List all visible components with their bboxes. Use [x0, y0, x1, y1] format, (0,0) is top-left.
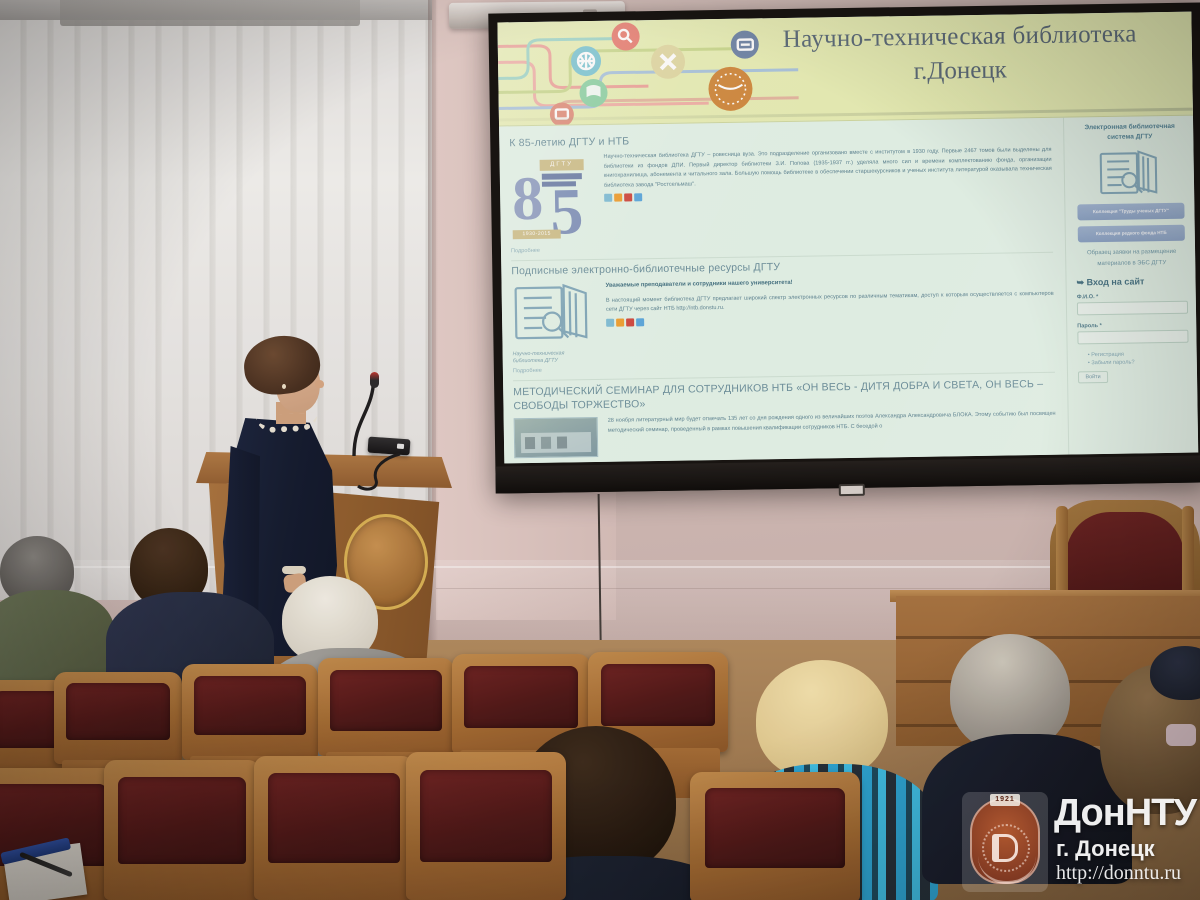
microphone-capsule — [370, 372, 379, 388]
section-body-text: Уважаемые преподаватели и сотрудники наш… — [605, 274, 1054, 373]
slide-title-block: Научно-техническая библиотека г.Донецк — [750, 20, 1171, 89]
news-section-resources: Подписные электронно-библиотечные ресурс… — [511, 257, 1055, 374]
odnoklassniki-icon[interactable] — [616, 318, 624, 326]
slide-title-line1: Научно-техническая библиотека — [750, 20, 1170, 55]
blinds-valance — [60, 0, 360, 26]
fullname-field-label: Ф.И.О. * — [1077, 293, 1188, 301]
facebook-icon[interactable] — [624, 194, 632, 202]
auditorium-chair[interactable] — [104, 760, 260, 900]
book-search-icon — [511, 281, 596, 344]
presidium-chair — [1050, 500, 1200, 604]
book-search-icon — [1097, 148, 1164, 198]
mail-icon[interactable] — [606, 319, 614, 327]
news-section-seminar: МЕТОДИЧЕСКИЙ СЕМИНАР ДЛЯ СОТРУДНИКОВ НТБ… — [513, 377, 1056, 459]
forgot-password-link[interactable]: • Забыли пароль? — [1088, 359, 1189, 367]
watermark-city: г. Донецк — [1056, 836, 1155, 862]
seminar-photo-thumbnail[interactable] — [514, 417, 601, 458]
library-website-slide: Научно-техническая библиотека г.Донецк К… — [497, 12, 1198, 464]
section-lead-text: Уважаемые преподаватели и сотрудники наш… — [606, 280, 793, 289]
facebook-icon[interactable] — [626, 318, 634, 326]
register-link[interactable]: • Регистрация — [1088, 351, 1189, 359]
slide-title-line2: г.Донецк — [750, 54, 1170, 89]
auditorium-chair[interactable] — [406, 752, 566, 900]
crest-monogram — [992, 834, 1018, 862]
section-body-text: 28 ноября литературный мир будет отмечат… — [608, 410, 1057, 457]
audience-head — [756, 660, 888, 780]
logo-years-banner: 1930-2015 — [513, 230, 561, 240]
login-arrow-icon: ➥ — [1076, 278, 1084, 288]
twitter-icon[interactable] — [636, 318, 644, 326]
password-input[interactable] — [1077, 330, 1188, 345]
login-heading: ➥ Вход на сайт — [1076, 276, 1187, 289]
watermark-title: ДонНТУ — [1054, 792, 1196, 835]
logo-number-8: 8 — [512, 168, 544, 230]
anniversary-logo-85: ДГТУ 8 5 1930-2015 Подробнее — [509, 153, 597, 254]
book-search-figure: Научно-техническая библиотека ДГТУ Подро… — [511, 281, 598, 374]
projected-slide-surface: Научно-техническая библиотека г.Донецк К… — [497, 12, 1198, 464]
watermark: 1921 ДонНТУ г. Донецк http://donntu.ru — [962, 790, 1192, 894]
presenter-profile-nose — [315, 380, 324, 388]
section-heading[interactable]: МЕТОДИЧЕСКИЙ СЕМИНАР ДЛЯ СОТРУДНИКОВ НТБ… — [513, 377, 1055, 414]
auditorium-chair[interactable] — [690, 772, 860, 900]
fullname-input[interactable] — [1077, 301, 1188, 316]
sidebar-heading: Электронная библиотечная система ДГТУ — [1074, 122, 1185, 144]
audience-member — [120, 528, 270, 678]
projection-screen: Научно-техническая библиотека г.Донецк К… — [488, 2, 1200, 493]
collection-rare-fund-button[interactable]: Коллекция редкого фонда НТБ — [1078, 224, 1185, 242]
audience-member — [1150, 646, 1200, 716]
audience-hair-tie — [1166, 724, 1196, 746]
news-section-anniversary: К 85-летию ДГТУ и НТБ ДГТУ 8 5 — [509, 129, 1053, 254]
presenter-sleeve-cuff — [282, 566, 306, 574]
conference-hall-photo: Научно-техническая библиотека г.Донецк К… — [0, 0, 1200, 900]
audience-shoulders — [0, 590, 114, 680]
presenter-earring — [282, 384, 286, 389]
audience-hat — [1150, 646, 1200, 700]
screen-pull-handle[interactable] — [839, 484, 865, 496]
mail-icon[interactable] — [604, 194, 612, 202]
odnoklassniki-icon[interactable] — [614, 194, 622, 202]
logo-badge-label: ДГТУ — [540, 159, 584, 171]
read-more-link[interactable]: Подробнее — [513, 367, 599, 374]
auditorium-chair[interactable] — [318, 658, 454, 756]
login-submit-button[interactable]: Войти — [1078, 371, 1108, 383]
microphone-indicator — [397, 444, 404, 449]
slide-header: Научно-техническая библиотека г.Донецк — [497, 12, 1193, 127]
university-crest-icon: 1921 — [970, 798, 1040, 884]
collection-works-button[interactable]: Коллекция "Труды ученых ДГТУ" — [1077, 202, 1184, 220]
social-share-row[interactable] — [606, 312, 1054, 327]
watermark-url[interactable]: http://donntu.ru — [1056, 862, 1181, 885]
notepad — [3, 843, 87, 900]
slide-body: К 85-летию ДГТУ и НТБ ДГТУ 8 5 — [499, 116, 1198, 464]
auditorium-chair[interactable] — [54, 672, 182, 764]
auditorium-chair[interactable] — [182, 664, 318, 760]
slide-main-column: К 85-летию ДГТУ и НТБ ДГТУ 8 5 — [499, 118, 1068, 464]
section-body-text: Научно-техническая библиотека ДГТУ – ров… — [603, 146, 1053, 253]
twitter-icon[interactable] — [634, 194, 642, 202]
password-field-label: Пароль * — [1077, 322, 1188, 330]
figure-caption: Научно-техническая библиотека ДГТУ — [513, 350, 599, 366]
sidebar-note: Образец заявки на размещение материалов … — [1076, 246, 1187, 269]
social-share-row[interactable] — [604, 187, 1052, 202]
audience-member — [0, 536, 110, 656]
auditorium-chair[interactable] — [254, 756, 414, 900]
slide-sidebar: Электронная библиотечная система ДГТУ — [1063, 116, 1198, 455]
crest-year: 1921 — [990, 794, 1020, 806]
